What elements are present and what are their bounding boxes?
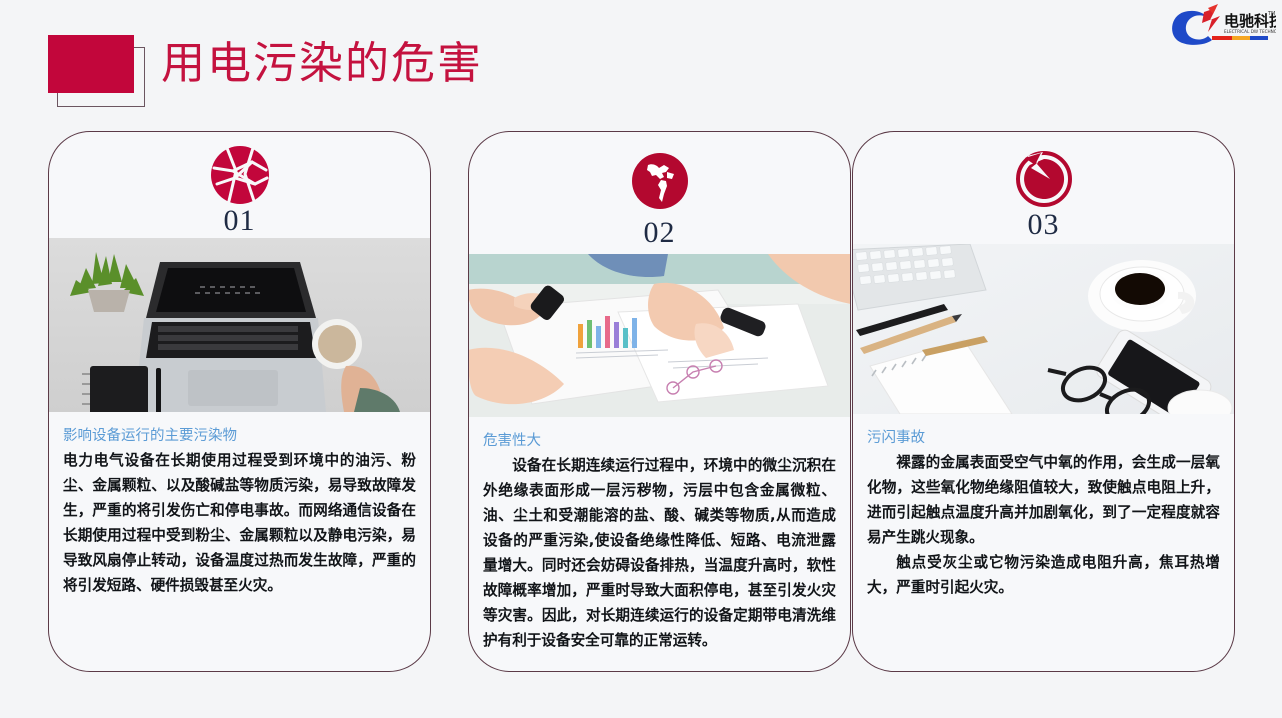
card-body: 污闪事故 裸露的金属表面受空气中氧的作用，会生成一层氧化物，这些氧化物绝缘阻值较… [853,414,1234,600]
card-paragraph: 裸露的金属表面受空气中氧的作用，会生成一层氧化物，这些氧化物绝缘阻值较大，致使触… [867,450,1220,550]
card-header: 01 [49,132,430,238]
card-subtitle: 污闪事故 [867,426,1220,447]
card-subtitle: 影响设备运行的主要污染物 [63,424,416,445]
svg-text:ELECTRICAL DW TECHNOLOGY: ELECTRICAL DW TECHNOLOGY [1224,29,1276,34]
card-subtitle: 危害性大 [483,429,836,450]
keyboard-coffee-phone-glasses-photo [853,244,1234,414]
desk-laptop-plant-coffee-photo [49,238,430,412]
pie-flash-icon [853,146,1234,208]
content-card-02[interactable]: 02 [468,131,851,672]
card-paragraph: 电力电气设备在长期使用过程受到环境中的油污、粉尘、金属颗粒、以及酸碱盐等物质污染… [63,448,416,598]
page-title: 用电污染的危害 [161,29,483,99]
card-header: 03 [853,132,1234,244]
content-card-03[interactable]: 03 [852,131,1235,672]
card-number: 02 [469,216,850,250]
company-logo: 电驰科技 ELECTRICAL DW TECHNOLOGY TM [1164,2,1276,50]
cracked-sphere-icon [49,144,430,206]
card-header: 02 [469,132,850,254]
content-card-01[interactable]: 01 [48,131,431,672]
card-number: 01 [49,204,430,238]
card-body: 影响设备运行的主要污染物 电力电气设备在长期使用过程受到环境中的油污、粉尘、金属… [49,412,430,598]
card-paragraph: 触点受灰尘或它物污染造成电阻升高，焦耳热增大，严重时引起火灾。 [867,550,1220,600]
title-accent-square [48,35,134,93]
svg-text:TM: TM [1267,11,1275,17]
hands-charts-documents-photo [469,254,850,417]
card-paragraph: 设备在长期连续运行过程中，环境中的微尘沉积在外绝缘表面形成一层污秽物，污层中包含… [483,453,836,653]
globe-americas-icon [469,152,850,210]
card-number: 03 [853,208,1234,242]
card-body: 危害性大 设备在长期连续运行过程中，环境中的微尘沉积在外绝缘表面形成一层污秽物，… [469,417,850,653]
